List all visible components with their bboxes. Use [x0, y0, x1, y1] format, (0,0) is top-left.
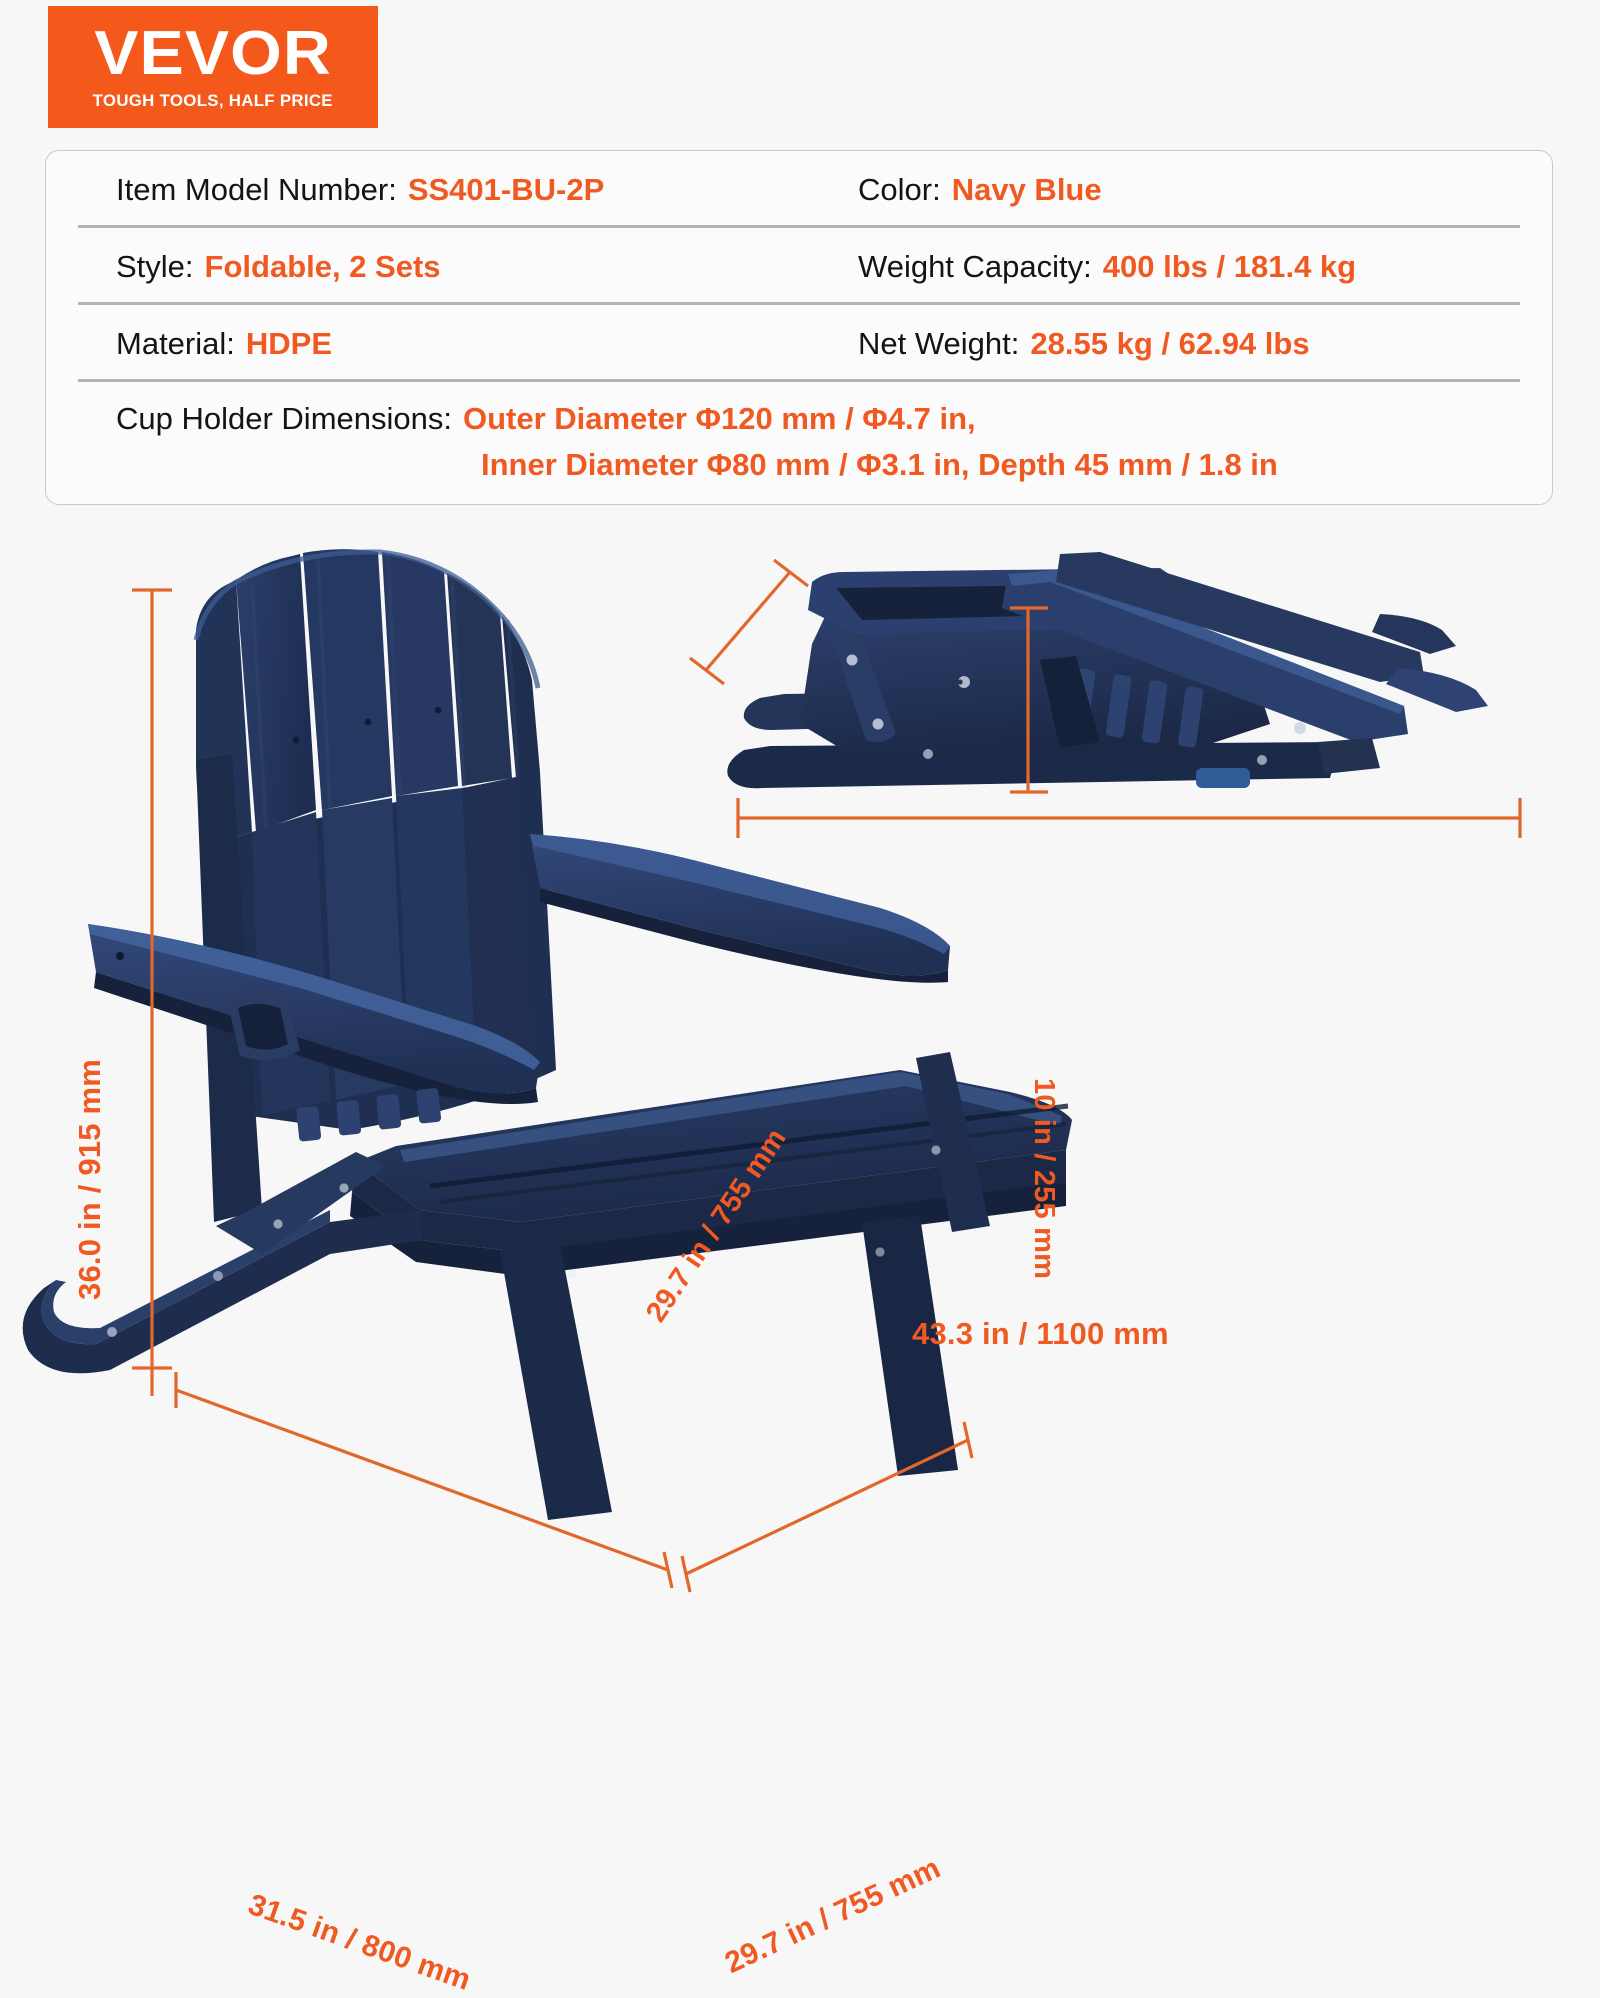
spec-row: Material: HDPE Net Weight: 28.55 kg / 62… — [46, 305, 1552, 382]
spec-label: Net Weight: — [858, 326, 1019, 362]
spec-cell-net-weight: Net Weight: 28.55 kg / 62.94 lbs — [806, 326, 1552, 362]
cup-holder-line-1: Outer Diameter Φ120 mm / Φ4.7 in, — [463, 396, 1278, 442]
cup-holder-line-2: Inner Diameter Φ80 mm / Φ3.1 in, Depth 4… — [463, 442, 1278, 488]
chair-armrest-right — [530, 834, 950, 983]
spec-row: Item Model Number: SS401-BU-2P Color: Na… — [46, 151, 1552, 228]
spec-cell-style: Style: Foldable, 2 Sets — [46, 249, 806, 285]
spec-label: Item Model Number: — [116, 172, 397, 208]
folded-chair-illustration — [727, 552, 1488, 788]
dimension-label-height: 36.0 in / 915 mm — [72, 1059, 108, 1300]
dimension-label-width: 29.7 in / 755 mm — [720, 1851, 946, 1980]
row-divider — [78, 379, 1520, 382]
spec-label: Color: — [858, 172, 941, 208]
spec-value: SS401-BU-2P — [408, 172, 604, 208]
spec-label: Weight Capacity: — [858, 249, 1092, 285]
spec-label: Style: — [116, 249, 194, 285]
spec-label: Material: — [116, 326, 235, 362]
spec-value: HDPE — [246, 326, 332, 362]
spec-label: Cup Holder Dimensions: — [46, 396, 452, 442]
product-illustrations: 36.0 in / 915 mm 31.5 in / 800 mm 29.7 i… — [0, 510, 1600, 1600]
spec-value: 400 lbs / 181.4 kg — [1103, 249, 1356, 285]
dimension-label-depth: 31.5 in / 800 mm — [244, 1888, 475, 1998]
product-spec-page: VEVOR TOUGH TOOLS, HALF PRICE Item Model… — [0, 0, 1600, 1600]
brand-name: VEVOR — [94, 25, 332, 83]
spec-cell-weight-capacity: Weight Capacity: 400 lbs / 181.4 kg — [806, 249, 1552, 285]
spec-cell-material: Material: HDPE — [46, 326, 806, 362]
chair-front-leg-left — [500, 1244, 612, 1520]
vevor-logo: VEVOR TOUGH TOOLS, HALF PRICE — [48, 6, 378, 128]
spec-value: Navy Blue — [952, 172, 1102, 208]
spec-value-cup-holder: Outer Diameter Φ120 mm / Φ4.7 in, Inner … — [463, 396, 1278, 488]
spec-value: 28.55 kg / 62.94 lbs — [1030, 326, 1309, 362]
spec-row-cup-holder: Cup Holder Dimensions: Outer Diameter Φ1… — [46, 382, 1552, 516]
spec-row: Style: Foldable, 2 Sets Weight Capacity:… — [46, 228, 1552, 305]
dimension-label-folded-length: 43.3 in / 1100 mm — [912, 1316, 1169, 1352]
brand-tagline: TOUGH TOOLS, HALF PRICE — [93, 92, 333, 110]
spec-value: Foldable, 2 Sets — [205, 249, 441, 285]
spec-cell-model: Item Model Number: SS401-BU-2P — [46, 172, 806, 208]
illustration-svg — [0, 510, 1600, 1600]
specification-panel: Item Model Number: SS401-BU-2P Color: Na… — [45, 150, 1553, 505]
dimension-label-folded-height: 10 in / 255 mm — [1027, 1078, 1060, 1279]
spec-cell-color: Color: Navy Blue — [806, 172, 1552, 208]
